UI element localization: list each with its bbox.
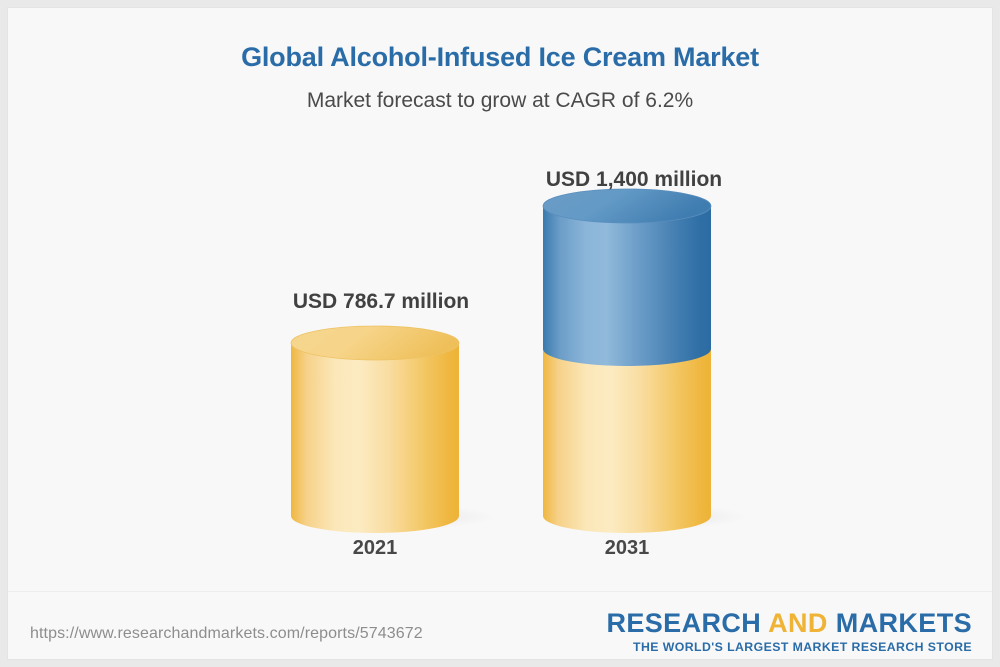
infographic-card: Global Alcohol-Infused Ice Cream Market …	[7, 7, 993, 660]
bar-2021-body	[291, 343, 459, 533]
bar-2031-base-body	[543, 349, 711, 533]
category-label-2021: 2021	[275, 535, 475, 561]
bar-2031	[543, 189, 711, 533]
value-label-2021: USD 786.7 million	[206, 289, 556, 315]
brand-word-and: AND	[768, 608, 828, 638]
brand-logo[interactable]: RESEARCH AND MARKETS THE WORLD'S LARGEST…	[606, 608, 972, 655]
report-url-link[interactable]: https://www.researchandmarkets.com/repor…	[30, 625, 423, 643]
brand-word-markets: MARKETS	[828, 608, 972, 638]
bar-2021	[291, 326, 459, 533]
brand-tagline: THE WORLD'S LARGEST MARKET RESEARCH STOR…	[606, 639, 972, 655]
footer-divider	[8, 591, 993, 592]
bar-2031-growth-body	[543, 206, 711, 366]
category-label-2031: 2031	[527, 535, 727, 561]
value-label-2031: USD 1,400 million	[459, 167, 809, 193]
brand-wordmark: RESEARCH AND MARKETS	[606, 608, 972, 638]
brand-word-research: RESEARCH	[606, 608, 768, 638]
chart-plot-area: USD 786.7 million USD 1,400 million 2021…	[8, 8, 993, 608]
